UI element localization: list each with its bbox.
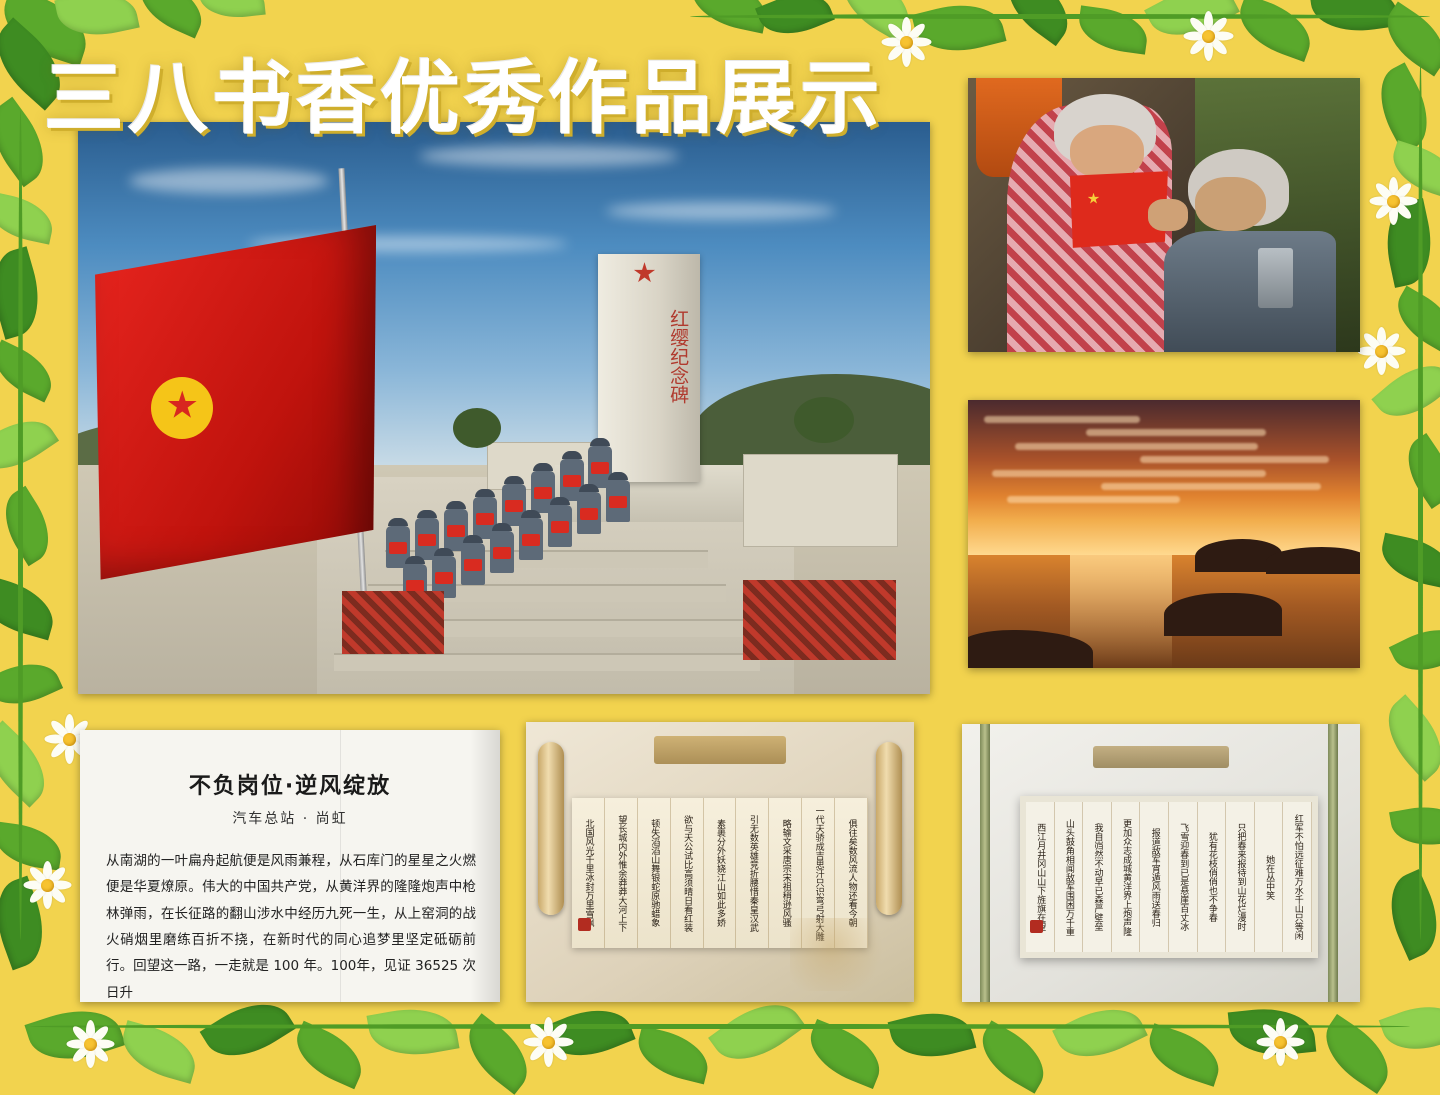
- page-title: 三八书香优秀作品展示: [44, 34, 884, 150]
- person-figure: [559, 451, 585, 487]
- island-silhouette: [1266, 547, 1360, 574]
- leaf-icon: [0, 486, 63, 567]
- red-seal-icon: [578, 918, 591, 931]
- cloud-band: [992, 470, 1266, 477]
- leaf-icon: [1366, 62, 1440, 153]
- daisy-flower-icon: [1356, 326, 1406, 376]
- party-emblem-icon: [151, 377, 213, 439]
- leaf-icon: [0, 339, 61, 402]
- island-silhouette: [1164, 593, 1282, 636]
- daisy-flower-icon: [878, 14, 934, 70]
- monument-inscription: 红缨纪念碑: [611, 294, 688, 420]
- calligraphy-column: 顿失滔滔山舞银蛇原驰蜡象: [638, 798, 671, 948]
- essay-body-text: 从南湖的一叶扁舟起航便是风雨兼程，从石库门的星星之火燃便是华夏燎原。伟大的中国共…: [106, 848, 476, 1002]
- decorative-motif: [790, 918, 891, 991]
- cloud-band: [1101, 483, 1321, 490]
- face-shape: [1195, 177, 1266, 232]
- person-figure: [587, 438, 613, 474]
- calligraphy-column: 素裹分外妖娆江山如此多娇: [704, 798, 737, 948]
- person-figure: [501, 476, 527, 512]
- leaf-icon: [1377, 869, 1440, 961]
- leaf-icon: [0, 651, 63, 716]
- leaf-icon: [1389, 617, 1440, 684]
- person-figure: [431, 548, 457, 584]
- person-figure: [547, 497, 573, 533]
- leaf-icon: [1373, 694, 1440, 781]
- stair-step: [334, 653, 760, 671]
- flower-bed: [743, 580, 896, 660]
- calligraphy-column: 红军不怕远征难万水千山只等闲: [1283, 802, 1312, 952]
- leaf-icon: [198, 0, 265, 21]
- red-seal-icon: [1030, 920, 1043, 933]
- calligraphy-column: 山头鼓角相闻敌军围困万千重: [1055, 802, 1084, 952]
- leaf-icon: [0, 191, 57, 244]
- leaf-icon: [131, 0, 211, 39]
- tree-shape: [794, 397, 854, 443]
- leaf-icon: [287, 1021, 372, 1089]
- calligraphy-column: 只把春来报待到山花烂漫时: [1226, 802, 1255, 952]
- flower-bed: [342, 591, 444, 654]
- daisy-flower-icon: [22, 860, 72, 910]
- hand-shape: [1148, 199, 1187, 232]
- calligraphy-column: 更加众志成城黄洋界上炮声隆: [1112, 802, 1141, 952]
- water-bottle-shape: [1258, 248, 1293, 308]
- person-figure: [530, 463, 556, 499]
- leaf-icon: [1052, 994, 1148, 1072]
- calligraphy-column: 欲与天公试比高须晴日看红装: [671, 798, 704, 948]
- cloud-band: [1007, 496, 1179, 503]
- cloud-band: [1015, 443, 1258, 450]
- vine-stem: [1418, 60, 1423, 940]
- leaf-icon: [1141, 1023, 1226, 1086]
- daisy-flower-icon: [64, 1018, 116, 1070]
- leaf-icon: [115, 1020, 202, 1084]
- decorative-banner: [654, 736, 786, 764]
- leaf-icon: [0, 406, 59, 484]
- face-shape: [1070, 125, 1144, 180]
- photo-scroll-one[interactable]: 北国风光千里冰封万里雪飘 望长城内外惟余莽莽大河上下 顿失滔滔山舞银蛇原驰蜡象 …: [526, 722, 914, 1002]
- leaf-icon: [0, 574, 61, 641]
- photo-scroll-two[interactable]: 西江月井冈山山下旌旗在望 山头鼓角相闻敌军围困万千重 我自岿然不动早已森严壁垒 …: [962, 724, 1360, 1002]
- scroll-rod-left: [538, 742, 564, 916]
- stone-railing: [743, 454, 898, 548]
- page-fold-line: [340, 730, 341, 1002]
- person-figure: [443, 501, 469, 537]
- photo-ceremony[interactable]: 红缨纪念碑: [78, 122, 930, 694]
- framed-calligraphy: 西江月井冈山山下旌旗在望 山头鼓角相闻敌军围困万千重 我自岿然不动早已森严壁垒 …: [1020, 796, 1318, 958]
- elderly-man-figure: [1164, 231, 1336, 352]
- photo-elders[interactable]: [968, 78, 1360, 352]
- leaf-icon: [1379, 994, 1440, 1061]
- vine-stem: [690, 14, 1430, 19]
- bamboo-stem: [980, 724, 990, 1002]
- leaf-icon: [1076, 5, 1151, 54]
- leaf-icon: [970, 1020, 1055, 1093]
- person-figure: [489, 523, 515, 559]
- calligraphy-column: 犹有花枝俏俏也不争春: [1198, 802, 1227, 952]
- leaf-icon: [994, 0, 1081, 46]
- calligraphy-column: 引无数英雄竞折腰惜秦皇汉武: [736, 798, 769, 948]
- red-flag: [95, 225, 376, 580]
- leaf-icon: [1231, 0, 1319, 62]
- leaf-icon: [1376, 533, 1440, 589]
- calligraphy-grid: 西江月井冈山山下旌旗在望 山头鼓角相闻敌军围困万千重 我自岿然不动早已森严壁垒 …: [1026, 802, 1312, 952]
- essay-author: 汽车总站 · 尚虹: [80, 808, 500, 828]
- leaf-icon: [366, 1001, 459, 1063]
- calligraphy-column: 我自岿然不动早已森严壁垒: [1083, 802, 1112, 952]
- page-shadow: [470, 730, 500, 1002]
- person-figure: [460, 535, 486, 571]
- calligraphy-column: 望长城内外惟余莽莽大河上下: [605, 798, 638, 948]
- leaf-icon: [632, 1026, 714, 1085]
- daisy-flower-icon: [1254, 1016, 1306, 1068]
- essay-title: 不负岗位·逆风绽放: [80, 768, 500, 800]
- leaf-icon: [801, 1019, 890, 1089]
- leaf-icon: [0, 246, 50, 339]
- daisy-flower-icon: [1368, 176, 1418, 226]
- daisy-flower-icon: [520, 1014, 576, 1070]
- sunset-sky: [968, 400, 1360, 555]
- scroll-rod-right: [876, 742, 902, 916]
- person-figure: [576, 484, 602, 520]
- person-figure: [518, 510, 544, 546]
- calligraphy-column: 飞雪迎春到已是悬崖百丈冰: [1169, 802, 1198, 952]
- photo-essay[interactable]: 不负岗位·逆风绽放 汽车总站 · 尚虹 从南湖的一叶扁舟起航便是风雨兼程，从石库…: [80, 730, 500, 1002]
- calligraphy-column: 她在丛中笑: [1255, 802, 1284, 952]
- cloud-band: [1140, 456, 1328, 463]
- cloud-shape: [129, 168, 329, 194]
- cloud-band: [1086, 429, 1266, 436]
- daisy-flower-icon: [1180, 8, 1236, 64]
- leaf-icon: [1309, 0, 1399, 38]
- person-figure: [605, 472, 631, 508]
- photo-sunset[interactable]: [968, 400, 1360, 668]
- person-figure: [402, 556, 428, 592]
- bamboo-stem: [1328, 724, 1338, 1002]
- person-figure: [472, 489, 498, 525]
- vine-stem: [30, 1024, 1410, 1029]
- vine-stem: [18, 110, 23, 940]
- calligraphy-column: 报道敌军宵遁风雨送春归: [1140, 802, 1169, 952]
- leaf-icon: [1389, 800, 1440, 852]
- cloud-shape: [606, 202, 836, 220]
- person-figure: [385, 518, 411, 554]
- decorative-banner: [1093, 746, 1228, 768]
- leaf-icon: [888, 1003, 977, 1067]
- person-figure: [414, 510, 440, 546]
- cloud-band: [984, 416, 1141, 423]
